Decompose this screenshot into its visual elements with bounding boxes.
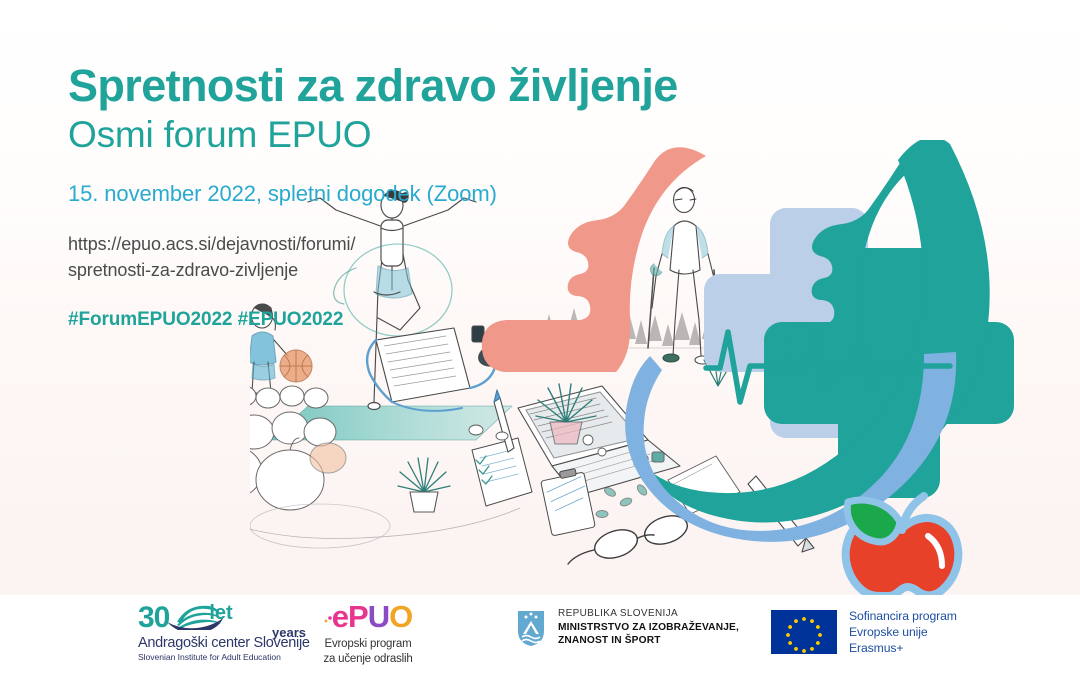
event-url[interactable]: https://epuo.acs.si/dejavnosti/forumi/ s…	[68, 231, 398, 283]
poster-canvas: Spretnosti za zdravo življenje Osmi foru…	[0, 0, 1080, 675]
event-url-line-1: https://epuo.acs.si/dejavnosti/forumi/	[68, 231, 398, 257]
acs-globe-icon	[165, 600, 223, 630]
epuo-letter-e: e	[332, 599, 348, 634]
logo-epuo: ePUO Evropski program za učenje odraslih	[313, 601, 423, 667]
ministry-name-line-2: ZNANOST IN ŠPORT	[558, 634, 739, 648]
page-title: Spretnosti za zdravo življenje	[68, 62, 708, 111]
slovenia-coat-of-arms-icon	[516, 609, 546, 647]
logo-eu-erasmus: Sofinancira program Evropske unije Erasm…	[771, 608, 957, 656]
acs-logo-mark: 30 let years	[138, 599, 308, 633]
apple-graphic	[846, 496, 959, 596]
eu-funding-text: Sofinancira program Evropske unije Erasm…	[849, 608, 957, 656]
eu-line-1: Sofinancira program	[849, 608, 957, 624]
poster-text-block: Spretnosti za zdravo življenje Osmi foru…	[68, 62, 708, 331]
epuo-letter-p: P	[348, 599, 368, 634]
eu-line-2: Evropske unije	[849, 624, 957, 640]
event-date: 15. november 2022, spletni dogodek (Zoom…	[68, 181, 708, 207]
epuo-letter-u: U	[368, 599, 389, 634]
hashtags: #ForumEPUO2022 #EPUO2022	[68, 309, 708, 331]
epuo-subtitle-line-2: za učenje odraslih	[313, 652, 423, 667]
ministry-name: MINISTRSTVO ZA IZOBRAŽEVANJE, ZNANOST IN…	[558, 621, 739, 649]
event-url-line-2: spretnosti-za-zdravo-zivljenje	[68, 257, 398, 283]
footer-logo-bar: 30 let years Andragoški center Slovenije…	[0, 595, 1080, 675]
epuo-subtitle-line-1: Evropski program	[313, 637, 423, 652]
eu-line-3: Erasmus+	[849, 640, 957, 656]
page-subtitle: Osmi forum EPUO	[68, 114, 708, 155]
ministry-name-line-1: MINISTRSTVO ZA IZOBRAŽEVANJE,	[558, 621, 739, 635]
eu-flag-icon	[771, 610, 837, 654]
logo-acs: 30 let years Andragoški center Slovenije…	[138, 599, 308, 662]
ministry-republic-label: REPUBLIKA SLOVENIJA	[558, 607, 739, 621]
epuo-subtitle: Evropski program za učenje odraslih	[313, 637, 423, 667]
logo-ministry: REPUBLIKA SLOVENIJA MINISTRSTVO ZA IZOBR…	[516, 607, 739, 648]
epuo-letter-o: O	[389, 599, 412, 634]
acs-subtitle: Slovenian Institute for Adult Education	[138, 653, 308, 662]
acs-years-label: years	[272, 626, 306, 639]
epuo-wordmark: ePUO	[313, 601, 423, 632]
fruit-pile	[250, 386, 346, 510]
